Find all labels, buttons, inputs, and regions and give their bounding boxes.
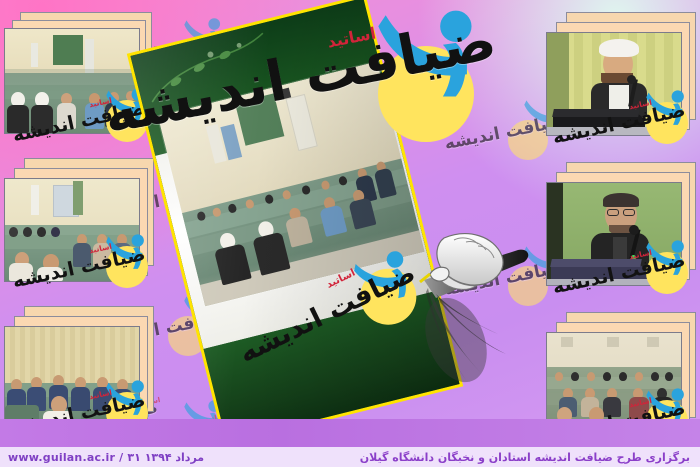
photo-participants-row[interactable] bbox=[4, 326, 140, 428]
photo-audience-seated[interactable] bbox=[4, 178, 140, 282]
hand-holding-quill-icon bbox=[410, 222, 536, 398]
footer-event-description: برگزاری طرح ضیافت اندیشه استادان و نخبگا… bbox=[360, 451, 690, 464]
photo-speaker-glasses[interactable] bbox=[546, 182, 682, 286]
footer-strip: www.guilan.ac.ir / ۳۱ مرداد ۱۳۹۴ برگزاری… bbox=[0, 447, 700, 467]
footer-website-date[interactable]: www.guilan.ac.ir / ۳۱ مرداد ۱۳۹۴ bbox=[8, 451, 204, 464]
event-poster: اساتید ضیافت اندیشه اساتید ضیافت اندیشه … bbox=[0, 0, 700, 467]
photo-speaker-cleric[interactable] bbox=[546, 32, 682, 136]
crescent-moon-icon bbox=[508, 120, 548, 160]
photo-stack-right-1[interactable]: اساتید ضیافت اندیشه bbox=[544, 12, 698, 142]
photo-stack-left-3[interactable]: اساتید ضیافت اندیشه bbox=[2, 306, 154, 434]
photo-stack-left-2[interactable]: اساتید ضیافت اندیشه bbox=[2, 158, 154, 286]
photo-stack-right-2[interactable]: اساتید ضیافت اندیشه bbox=[544, 162, 698, 292]
main-title-logo: اساتید ضیافت اندیشه bbox=[194, 6, 504, 134]
footer-band bbox=[0, 419, 700, 447]
